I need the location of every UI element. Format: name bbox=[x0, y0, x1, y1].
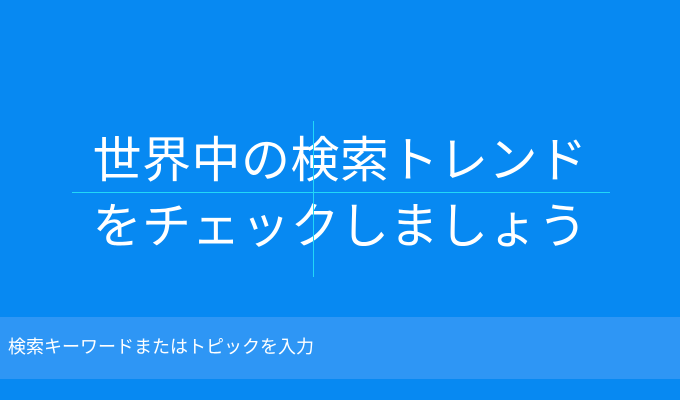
page-title-line-2: をチェックしましょう bbox=[0, 194, 680, 260]
bottom-strip bbox=[0, 379, 680, 400]
vertical-guide-line bbox=[313, 121, 314, 277]
search-input[interactable] bbox=[0, 337, 668, 359]
page-title-line-1: 世界中の検索トレンド bbox=[0, 128, 680, 194]
page-title: 世界中の検索トレンド をチェックしましょう bbox=[0, 128, 680, 260]
hero-section: 世界中の検索トレンド をチェックしましょう bbox=[0, 0, 680, 317]
app-screen: 世界中の検索トレンド をチェックしましょう bbox=[0, 0, 680, 400]
search-bar[interactable] bbox=[0, 317, 680, 379]
horizontal-guide-line bbox=[72, 192, 610, 193]
